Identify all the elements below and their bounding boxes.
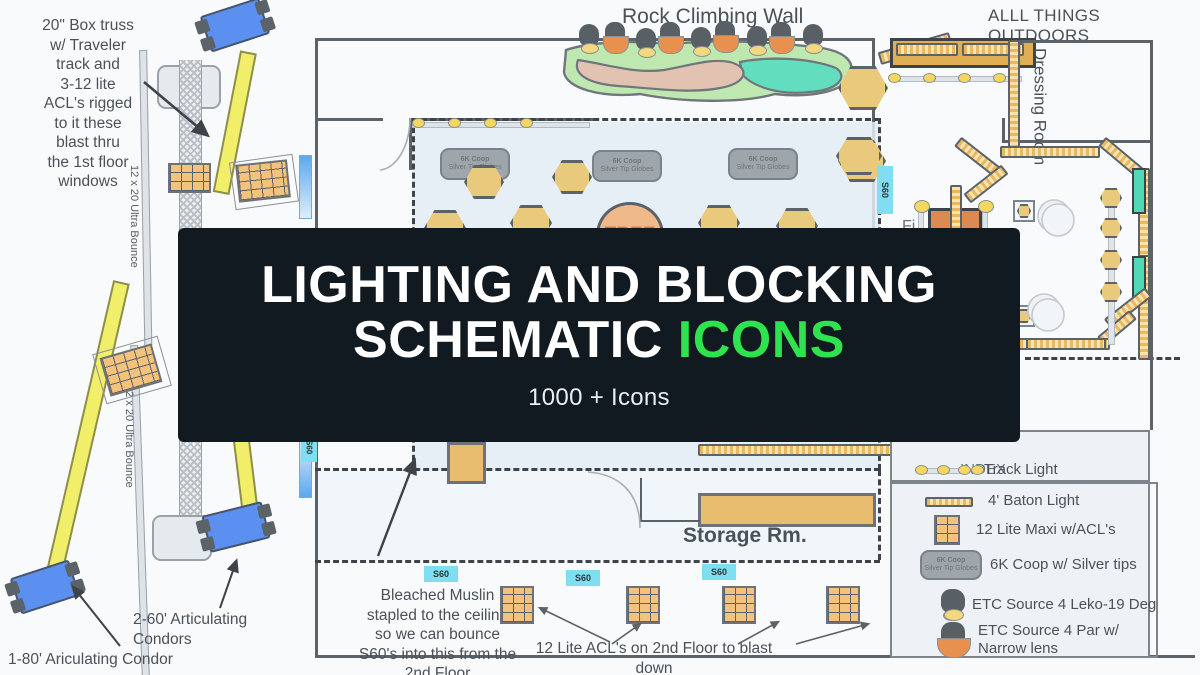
track-light-dot-2 — [923, 73, 936, 83]
condor-tread — [4, 580, 20, 596]
dressing-room-vertical-baton — [1008, 40, 1020, 150]
reflector-disc-upper — [1032, 196, 1080, 240]
track-light-dot-3 — [958, 73, 971, 83]
leko-lens — [693, 46, 711, 57]
climbing-wall-fixture-4 — [658, 22, 682, 54]
s60-marker-bottom-3: S60 — [702, 564, 736, 580]
leko-lens — [749, 45, 767, 56]
condor-tread — [200, 36, 216, 52]
condor-60-arrow — [200, 556, 242, 612]
legend-track-dot-2 — [937, 465, 950, 475]
partition-wall-top-left — [315, 118, 383, 121]
curved-wall — [588, 470, 644, 530]
banner-line-2: SCHEMATIC ICONS — [353, 313, 845, 368]
legend-label-baton-light: 4' Baton Light — [988, 492, 1079, 510]
climbing-wall-fixture-1 — [578, 24, 600, 54]
coop-label-line2: Silver Tip Globes — [925, 565, 978, 573]
climbing-wall-fixture-2 — [603, 22, 627, 54]
climbing-wall-fixture-5 — [690, 27, 712, 57]
climbing-wall-fixture-9 — [802, 24, 824, 54]
ceiling-track-dot-3 — [484, 118, 497, 128]
s60-marker-floor-right: S60 — [877, 166, 893, 214]
hearth-lamp-left — [914, 200, 930, 213]
legend-label-maxi: 12 Lite Maxi w/ACL's — [976, 521, 1116, 539]
condor-tread — [195, 518, 211, 534]
dressing-room-left-wall — [1002, 118, 1005, 143]
condor-80-annotation: 1-80' Ariculating Condor — [8, 650, 188, 670]
ultra-bounce-label-lower: 12 x 20 Ultra Bounce — [122, 385, 135, 488]
legend-maxi-light-icon — [934, 515, 960, 545]
legend-track-dot-4 — [971, 465, 984, 475]
dressing-room-top-wall — [1012, 40, 1152, 43]
track-light-dot-1 — [888, 73, 901, 83]
dressing-room-right-wall — [1150, 40, 1153, 430]
muslin-arrow — [370, 452, 430, 562]
teal-panel-upper — [1132, 168, 1146, 214]
storage-room-wall-bottom — [640, 520, 700, 522]
right-zone-dashed-v — [878, 470, 881, 560]
coop-label-line1: 6K Coop — [613, 158, 642, 166]
legend-track-dot-3 — [958, 465, 971, 475]
lower-horizontal-baton-2 — [1026, 338, 1106, 350]
leko-lens — [638, 47, 656, 58]
angled-baton-mid — [1000, 146, 1100, 158]
legend-label-coop: 6K Coop w/ Silver tips — [990, 556, 1137, 574]
legend-label-par: ETC Source 4 Par w/ Narrow lens — [978, 622, 1119, 658]
top-right-baton-2 — [896, 43, 958, 56]
coop-label-line2: Silver Tip Globes — [601, 166, 654, 174]
par-lens — [658, 36, 684, 54]
leko-lens — [581, 43, 599, 54]
climbing-wall-fixture-3 — [635, 28, 657, 58]
floor-boundary-upper — [412, 118, 880, 121]
legend-leko-lens — [944, 609, 964, 621]
coop-light-2: 6K Coop Silver Tip Globes — [592, 150, 662, 182]
truss-annotation: 20" Box truss w/ Traveler track and 3-12… — [18, 16, 158, 192]
truss-maxi-1 — [168, 163, 211, 193]
right-zone-dashed — [1025, 357, 1180, 360]
condor-tread — [10, 598, 26, 614]
coop-label-line2: Silver Tip Globes — [737, 164, 790, 172]
coop-label-line1: 6K Coop — [937, 557, 966, 565]
legend-coop-light-icon: 6K Coop Silver Tip Globes — [920, 550, 982, 580]
legend-baton-light-icon — [925, 497, 973, 507]
schematic-poster: Rock Climbing Wall ALLL THINGS OUTDOORS … — [0, 0, 1200, 675]
center-column-fixture — [447, 442, 486, 484]
track-light-dot-4 — [993, 73, 1006, 83]
leko-lens — [805, 43, 823, 54]
coop-label-line1: 6K Coop — [749, 156, 778, 164]
climbing-wall-fixture-6 — [713, 21, 737, 53]
climbing-wall-fixture-8 — [769, 22, 793, 54]
s60-marker-bottom-1: S60 — [424, 566, 458, 582]
ceiling-track-dot-1 — [412, 118, 425, 128]
title-banner: LIGHTING AND BLOCKING SCHEMATIC ICONS 10… — [178, 228, 1020, 442]
banner-line-1: LIGHTING AND BLOCKING — [261, 258, 937, 313]
storage-room-label: Storage Rm. — [683, 524, 807, 548]
reflector-disc-lower — [1022, 290, 1070, 336]
condor-top-acl-frame — [229, 154, 299, 210]
condor-tread — [200, 536, 216, 552]
par-lens — [713, 35, 739, 53]
ceiling-track-dot-2 — [448, 118, 461, 128]
coop-light-3: 6K Coop Silver Tip Globes — [728, 148, 798, 180]
climbing-wall-fixture-7 — [746, 26, 768, 56]
legend-track-dot-1 — [915, 465, 928, 475]
s60-marker-bottom-2: S60 — [566, 570, 600, 586]
par-lens — [769, 36, 795, 54]
banner-line-2-accent: ICONS — [678, 311, 845, 369]
coop-label-line1: 6K Coop — [461, 156, 490, 164]
acl-arrows — [490, 598, 880, 654]
banner-line-2-white: SCHEMATIC — [353, 311, 678, 369]
ceiling-track-dot-4 — [520, 118, 533, 128]
dressing-room-bottom-wall — [1002, 140, 1152, 143]
banner-subtitle: 1000 + Icons — [528, 384, 670, 412]
par-lens — [603, 36, 629, 54]
ceiling-track-run — [412, 122, 590, 128]
storage-room-fixture — [698, 493, 876, 527]
legend-label-leko: ETC Source 4 Leko-19 Deg — [972, 596, 1156, 614]
truss-annotation-arrow — [140, 78, 220, 148]
hearth-lamp-right — [978, 200, 994, 213]
window-marker-upper — [299, 155, 312, 219]
condor-80-arrow — [68, 580, 126, 650]
legend-label-track-light: Track Light — [984, 461, 1058, 479]
condor-60-annotation: 2-60' Articulating Condors — [133, 610, 303, 649]
condor-tread — [194, 18, 210, 34]
